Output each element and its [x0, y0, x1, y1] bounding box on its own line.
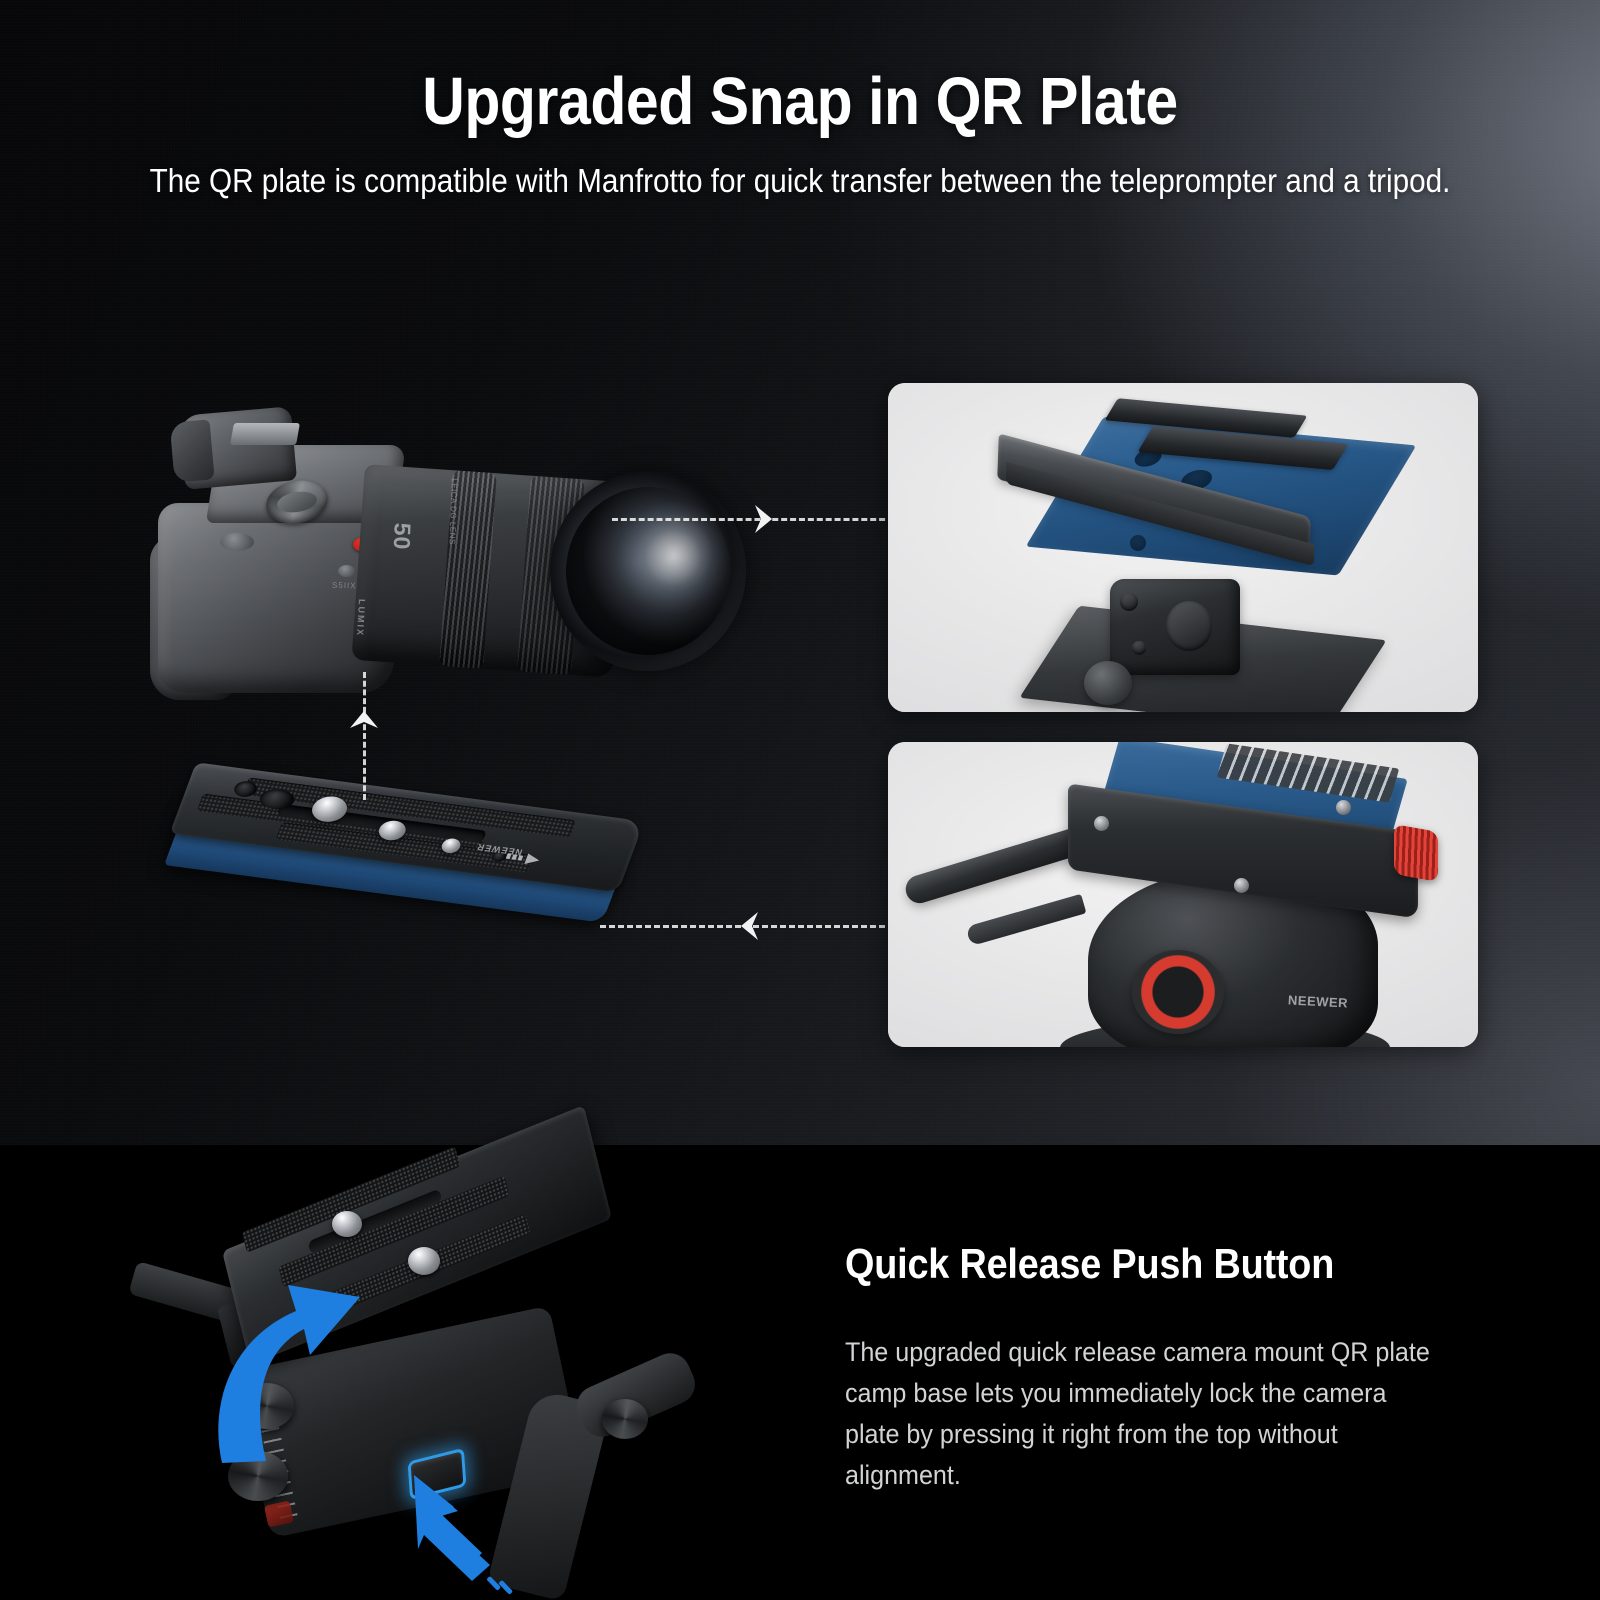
head-tension-dial [1132, 950, 1224, 1034]
chevron-right-icon [745, 500, 783, 538]
clamp-screw-3 [1336, 800, 1351, 815]
clamp-screw-1 [1094, 816, 1109, 831]
head-brand-label: NEEWER [1288, 992, 1349, 1010]
hero-subtitle: The QR plate is compatible with Manfrott… [80, 160, 1520, 202]
top-section: Upgraded Snap in QR Plate The QR plate i… [0, 0, 1600, 1145]
snap-motion-arrow-icon [200, 1251, 430, 1481]
feature-text-block: Quick Release Push Button The upgraded q… [845, 1240, 1485, 1496]
camera-illustration: S5IIX 50 LEICA DG LENS LUMIX [120, 385, 740, 715]
qr-plate-illustration: NEEWER [160, 790, 640, 980]
plate-screw-1 [332, 1211, 362, 1237]
hinge-bolt-1 [1120, 593, 1138, 611]
inset-panel-qr-mount [888, 383, 1478, 712]
feature-title: Quick Release Push Button [845, 1240, 1421, 1288]
camera-brand-label: LUMIX [355, 599, 367, 637]
product-infographic: Upgraded Snap in QR Plate The QR plate i… [0, 0, 1600, 1600]
push-button-illustration [90, 1155, 780, 1595]
chevron-up-icon [345, 700, 383, 738]
mount-front-bolt [1130, 535, 1146, 551]
chevron-left-icon [730, 907, 768, 945]
button-pointer-arrow-icon [412, 1473, 592, 1600]
camera-model-label: S5IIX [332, 581, 357, 591]
camera-viewfinder [179, 406, 297, 489]
camera-hotshoe [230, 423, 300, 445]
head-red-locking-knob [1394, 824, 1438, 882]
mount-hinge-assembly [1110, 579, 1240, 675]
feature-description: The upgraded quick release camera mount … [845, 1332, 1440, 1496]
bottom-section: Quick Release Push Button The upgraded q… [0, 1145, 1600, 1600]
camera-button-1 [338, 565, 355, 577]
lens-focus-ring [439, 470, 497, 669]
head-knob-right [602, 1399, 648, 1439]
inset-panel-video-head: NEEWER [888, 742, 1478, 1047]
page-title: Upgraded Snap in QR Plate [96, 66, 1504, 138]
hero-text-block: Upgraded Snap in QR Plate The QR plate i… [0, 66, 1600, 203]
mount-locking-knob [1084, 661, 1132, 705]
clamp-screw-2 [1234, 878, 1249, 893]
hinge-bolt-2 [1132, 641, 1146, 655]
camera-front-dial [220, 533, 254, 551]
hinge-barrel [1166, 601, 1212, 651]
lens-focal-label: 50 [388, 522, 416, 551]
